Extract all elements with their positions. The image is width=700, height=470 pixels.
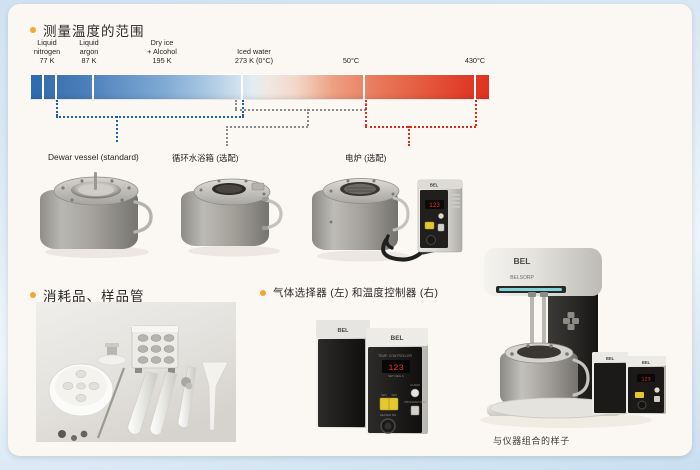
svg-text:123: 123	[429, 202, 440, 209]
svg-text:123: 123	[641, 377, 650, 383]
photo-gas-selector-temperature-controller: BEL BEL TEMP. CONTROLLER 123 SET DEG.C A…	[308, 304, 443, 439]
connector-bath-left-vertical	[235, 100, 237, 109]
segment-divider-2	[55, 74, 57, 100]
connector-dewar-right-vertical	[242, 100, 244, 116]
connector-furnace-drop	[408, 126, 410, 146]
equipment-caption-dewar-vessel: Dewar vessel (standard)	[48, 152, 139, 162]
equipment-caption-water-bath: 循环水浴箱 (选配)	[172, 152, 239, 164]
svg-text:BEL: BEL	[606, 356, 615, 361]
section-heading-controllers: 气体选择器 (左) 和温度控制器 (右)	[260, 285, 438, 300]
equipment-image-water-bath	[176, 164, 296, 259]
instrument-caption: 与仪器组合的样子	[493, 434, 570, 447]
bullet-dot-icon	[260, 290, 266, 296]
svg-text:HEATER SW: HEATER SW	[380, 413, 397, 417]
svg-text:BEL: BEL	[391, 335, 404, 342]
svg-text:ALARM: ALARM	[410, 383, 420, 387]
tick-label-liquid-nitrogen: Liquid nitrogen 77 K	[24, 38, 70, 66]
photo-instrument-assembly: BEL BELSORP BEL	[456, 232, 692, 432]
tick-label-50c: 50°C	[333, 56, 369, 65]
connector-dewar-left-vertical	[56, 100, 58, 116]
equipment-caption-electric-furnace: 电炉 (选配)	[345, 152, 386, 164]
svg-text:TEMP. CONTROLLER: TEMP. CONTROLLER	[378, 354, 413, 358]
connector-bath-drop	[226, 126, 228, 146]
equipment-image-electric-furnace: BEL 123	[308, 164, 468, 266]
svg-text:BEL: BEL	[430, 183, 439, 188]
connector-bath-horizontal-top	[235, 109, 366, 111]
photo-consumables-sample-tubes	[36, 302, 236, 442]
svg-text:BELSORP: BELSORP	[510, 275, 534, 281]
connector-dewar-drop	[116, 116, 118, 142]
segment-divider-1	[42, 74, 44, 100]
svg-text:SET DEG.C: SET DEG.C	[388, 374, 405, 378]
slide-panel: 测量温度的范围 Liquid nitrogen 77 K Liquid argo…	[8, 4, 692, 456]
equipment-image-dewar-vessel	[32, 164, 162, 259]
section-heading-controllers-label: 气体选择器 (左) 和温度控制器 (右)	[273, 285, 438, 300]
tick-label-liquid-argon: Liquid argon 87 K	[66, 38, 112, 66]
temperature-scale: Liquid nitrogen 77 K Liquid argon 87 K D…	[30, 38, 490, 148]
connector-bath-horizontal-bot	[226, 126, 308, 128]
connector-dewar-horizontal	[56, 116, 244, 118]
svg-text:SW2: SW2	[391, 393, 397, 397]
bullet-dot-icon	[30, 27, 36, 33]
connector-furnace-horizontal	[365, 126, 476, 128]
section-heading-temperature-label: 测量温度的范围	[43, 20, 145, 40]
segment-divider-5	[363, 74, 365, 100]
tick-label-iced-water: Iced water 273 K (0°C)	[218, 47, 290, 65]
connector-furnace-left-vertical	[365, 100, 367, 126]
temperature-gradient-bar	[30, 74, 490, 100]
svg-text:123: 123	[388, 363, 403, 373]
bullet-dot-icon	[30, 292, 36, 298]
segment-divider-3	[92, 74, 94, 100]
svg-text:PROGRAM RUN: PROGRAM RUN	[404, 400, 425, 404]
svg-text:SW1: SW1	[381, 393, 387, 397]
segment-divider-4	[241, 74, 243, 100]
svg-text:BEL: BEL	[642, 360, 651, 365]
segment-divider-6	[474, 74, 476, 100]
connector-furnace-right-vertical	[475, 100, 477, 126]
svg-text:BEL: BEL	[514, 256, 531, 266]
connector-bath-mid-vertical	[307, 109, 309, 126]
tick-label-430c: 430°C	[454, 56, 496, 65]
tick-label-dry-ice: Dry ice + Alcohol 195 K	[134, 38, 190, 66]
svg-text:BEL: BEL	[338, 328, 350, 334]
section-heading-temperature: 测量温度的范围	[30, 20, 145, 40]
